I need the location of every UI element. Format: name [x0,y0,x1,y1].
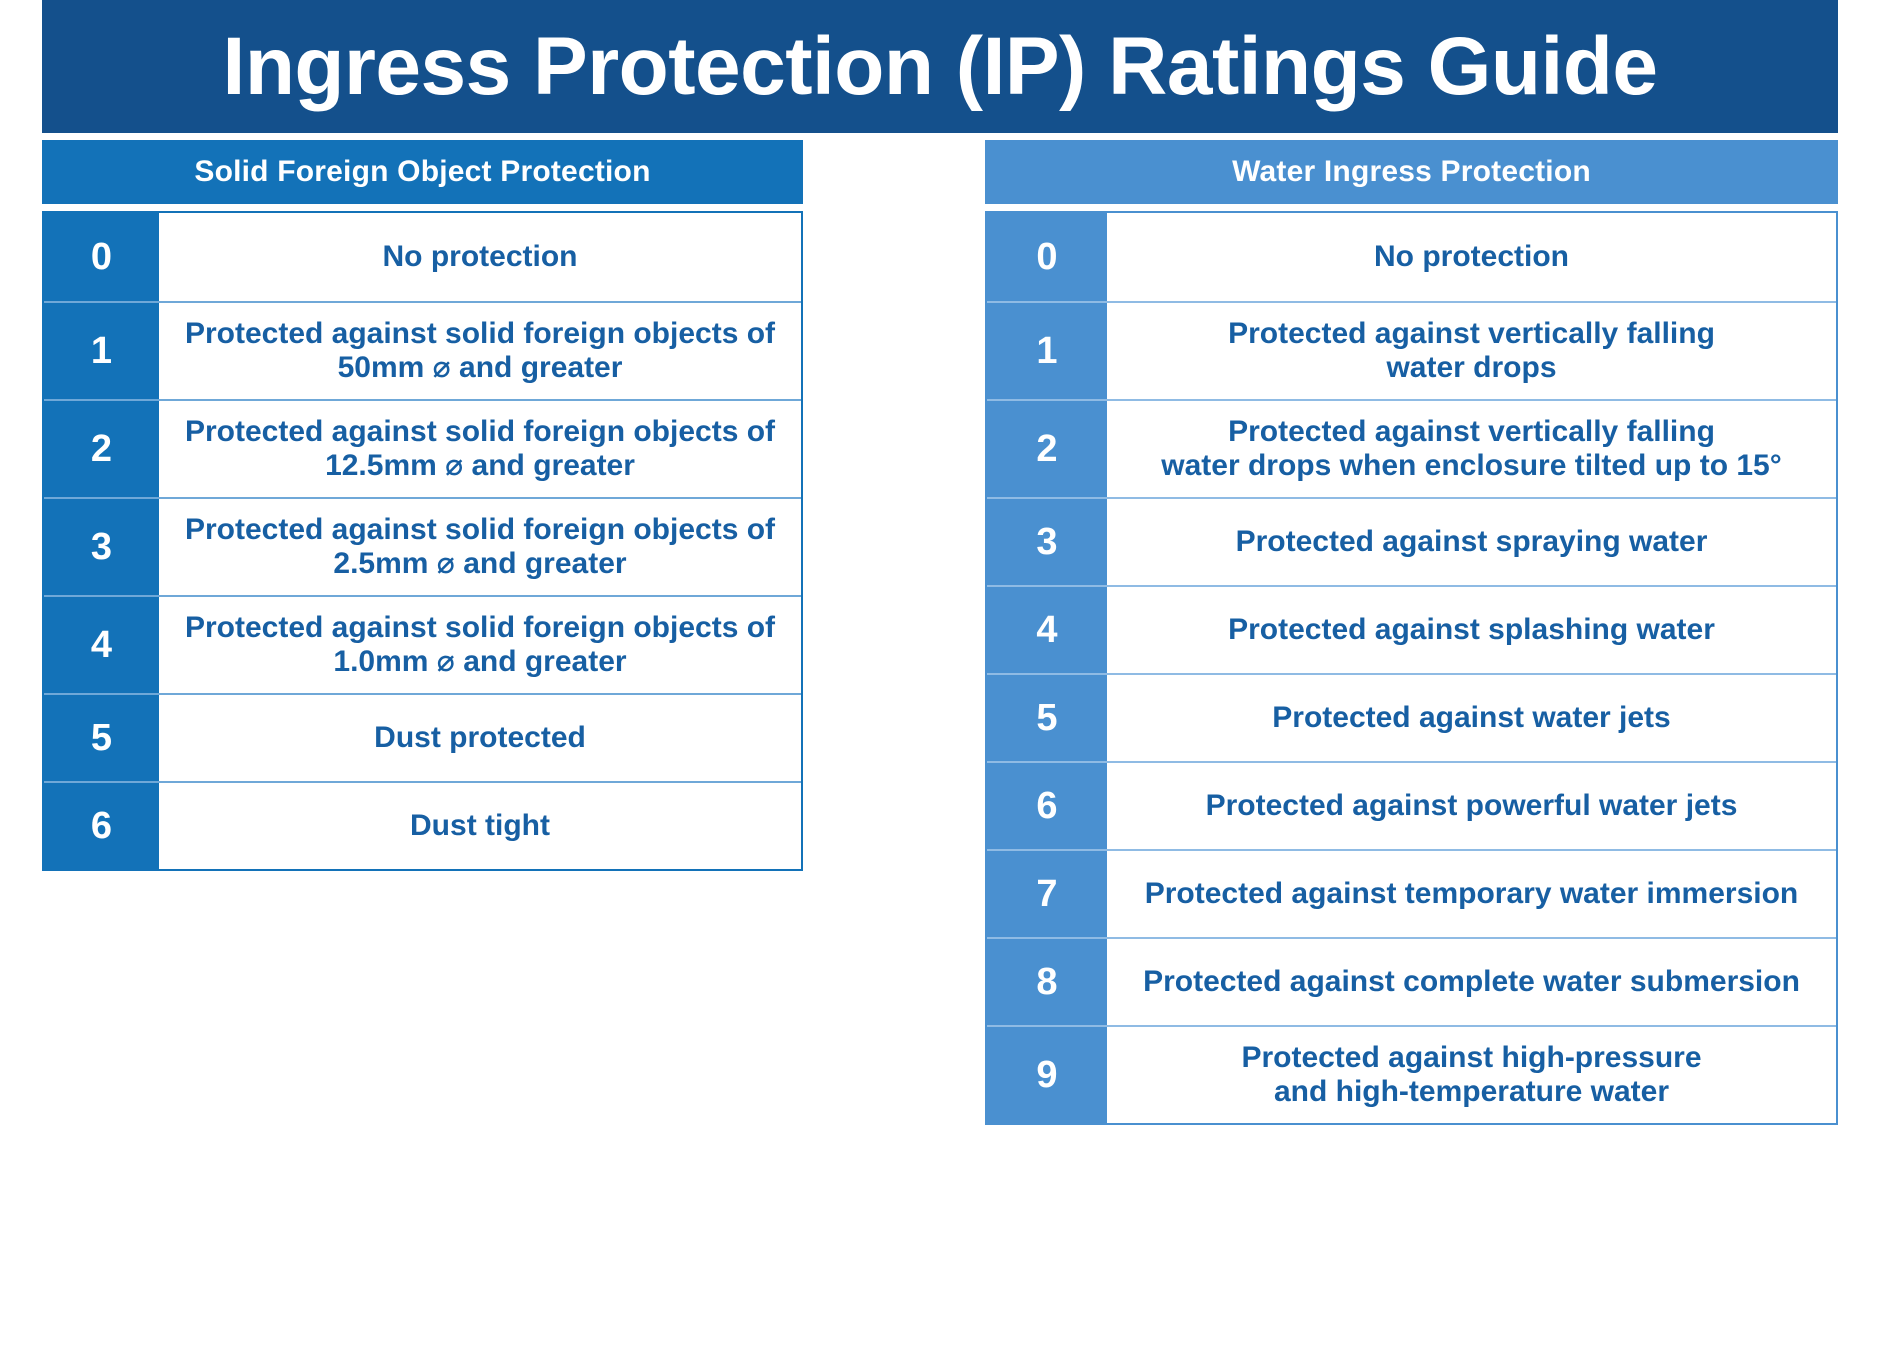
table-row: 4Protected against solid foreign objects… [44,595,801,693]
water-digit-4: 4 [987,587,1107,673]
table-row: 3Protected against solid foreign objects… [44,497,801,595]
table-row: 2Protected against vertically fallingwat… [987,399,1836,497]
table-row: 1Protected against solid foreign objects… [44,301,801,399]
solid-digit-5: 5 [44,695,159,781]
water-digit-5: 5 [987,675,1107,761]
description-line: water drops [1228,351,1715,385]
title-banner: Ingress Protection (IP) Ratings Guide [42,0,1838,133]
solid-description-3: Protected against solid foreign objects … [159,499,801,595]
water-description-2: Protected against vertically fallingwate… [1107,401,1836,497]
water-digit-2: 2 [987,401,1107,497]
water-description-9: Protected against high-pressureand high-… [1107,1027,1836,1123]
solid-digit-6: 6 [44,783,159,869]
table-row: 6Dust tight [44,781,801,869]
solid-protection-table: 0No protection1Protected against solid f… [42,211,803,871]
table-row: 0No protection [44,213,801,301]
solid-description-5: Dust protected [159,695,801,781]
water-description-8: Protected against complete water submers… [1107,939,1836,1025]
description-line: Protected against solid foreign objects … [185,317,775,351]
description-line: 50mm ⌀ and greater [185,351,775,385]
solid-protection-panel: Solid Foreign Object Protection 0No prot… [42,140,803,871]
description-line: Protected against temporary water immers… [1145,877,1799,911]
table-row: 6Protected against powerful water jets [987,761,1836,849]
table-row: 5Dust protected [44,693,801,781]
water-description-1: Protected against vertically fallingwate… [1107,303,1836,399]
solid-description-2: Protected against solid foreign objects … [159,401,801,497]
description-line: Protected against vertically falling [1228,317,1715,351]
description-line: and high-temperature water [1241,1075,1701,1109]
description-line: Protected against high-pressure [1241,1041,1701,1075]
description-line: 1.0mm ⌀ and greater [185,645,775,679]
water-digit-3: 3 [987,499,1107,585]
description-line: 2.5mm ⌀ and greater [185,547,775,581]
solid-description-6: Dust tight [159,783,801,869]
description-line: Protected against spraying water [1236,525,1708,559]
table-row: 9Protected against high-pressureand high… [987,1025,1836,1123]
solid-digit-2: 2 [44,401,159,497]
water-protection-panel: Water Ingress Protection 0No protection1… [985,140,1838,1125]
solid-digit-3: 3 [44,499,159,595]
description-line: Protected against solid foreign objects … [185,611,775,645]
water-protection-header: Water Ingress Protection [985,140,1838,204]
description-line: Dust tight [410,809,550,843]
solid-digit-1: 1 [44,303,159,399]
water-description-5: Protected against water jets [1107,675,1836,761]
water-description-6: Protected against powerful water jets [1107,763,1836,849]
water-description-3: Protected against spraying water [1107,499,1836,585]
water-protection-table: 0No protection1Protected against vertica… [985,211,1838,1125]
table-row: 4Protected against splashing water [987,585,1836,673]
table-row: 0No protection [987,213,1836,301]
solid-digit-4: 4 [44,597,159,693]
water-digit-7: 7 [987,851,1107,937]
description-line: Dust protected [374,721,586,755]
water-digit-0: 0 [987,213,1107,301]
page-title: Ingress Protection (IP) Ratings Guide [223,26,1658,108]
solid-description-1: Protected against solid foreign objects … [159,303,801,399]
water-description-7: Protected against temporary water immers… [1107,851,1836,937]
description-line: No protection [1374,240,1569,274]
description-line: 12.5mm ⌀ and greater [185,449,775,483]
water-digit-6: 6 [987,763,1107,849]
water-description-0: No protection [1107,213,1836,301]
description-line: Protected against water jets [1272,701,1670,735]
solid-digit-0: 0 [44,213,159,301]
water-digit-9: 9 [987,1027,1107,1123]
table-row: 7Protected against temporary water immer… [987,849,1836,937]
table-row: 8Protected against complete water submer… [987,937,1836,1025]
description-line: Protected against vertically falling [1161,415,1781,449]
description-line: water drops when enclosure tilted up to … [1161,449,1781,483]
table-row: 2Protected against solid foreign objects… [44,399,801,497]
table-row: 1Protected against vertically fallingwat… [987,301,1836,399]
description-line: Protected against powerful water jets [1206,789,1738,823]
solid-description-4: Protected against solid foreign objects … [159,597,801,693]
description-line: Protected against complete water submers… [1143,965,1800,999]
solid-protection-header: Solid Foreign Object Protection [42,140,803,204]
description-line: No protection [383,240,578,274]
poster-canvas: Ingress Protection (IP) Ratings Guide So… [0,0,1889,1354]
water-description-4: Protected against splashing water [1107,587,1836,673]
table-row: 3Protected against spraying water [987,497,1836,585]
table-row: 5Protected against water jets [987,673,1836,761]
description-line: Protected against solid foreign objects … [185,513,775,547]
description-line: Protected against splashing water [1228,613,1715,647]
description-line: Protected against solid foreign objects … [185,415,775,449]
water-digit-1: 1 [987,303,1107,399]
water-digit-8: 8 [987,939,1107,1025]
solid-description-0: No protection [159,213,801,301]
